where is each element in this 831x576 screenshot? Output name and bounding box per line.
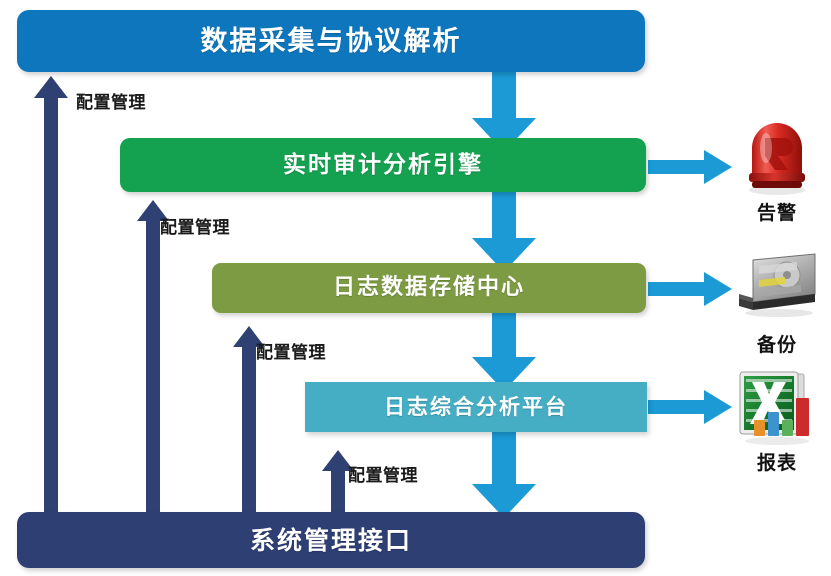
spreadsheet-chart-icon xyxy=(722,368,831,446)
config-arrow-up-2 xyxy=(136,200,170,516)
box-realtime-audit-engine-label: 实时审计分析引擎 xyxy=(283,154,483,177)
flow-arrow-storage-to-platform xyxy=(466,309,542,391)
config-arrow-label-2: 配置管理 xyxy=(160,213,230,238)
output-report[interactable]: 报表 xyxy=(722,368,831,475)
box-realtime-audit-engine[interactable]: 实时审计分析引擎 xyxy=(120,138,646,192)
output-alarm-caption: 告警 xyxy=(722,198,831,225)
siren-alarm-icon xyxy=(722,118,831,196)
output-alarm[interactable]: 告警 xyxy=(722,118,831,225)
output-report-caption: 报表 xyxy=(722,448,831,475)
config-arrow-up-1 xyxy=(33,76,69,516)
config-arrow-label-3: 配置管理 xyxy=(256,338,326,363)
output-backup[interactable]: 备份 xyxy=(722,250,831,357)
config-arrow-label-4: 配置管理 xyxy=(348,461,418,486)
output-backup-caption: 备份 xyxy=(722,330,831,357)
box-log-storage-center-label: 日志数据存储中心 xyxy=(333,277,525,299)
box-data-collection-label: 数据采集与协议解析 xyxy=(201,28,462,55)
flow-arrow-storage-to-backup xyxy=(648,272,732,306)
flow-arrow-engine-to-storage xyxy=(466,188,542,272)
architecture-diagram: 配置管理 配置管理 配置管理 配置管理 数据采集与协议解析 实时审计分析引擎 日… xyxy=(0,0,831,576)
box-log-analysis-platform[interactable]: 日志综合分析平台 xyxy=(305,382,647,432)
box-system-admin-interface[interactable]: 系统管理接口 xyxy=(17,512,645,568)
box-system-admin-interface-label: 系统管理接口 xyxy=(250,528,412,553)
hard-disk-icon xyxy=(722,250,831,328)
flow-arrow-platform-to-admin xyxy=(466,428,542,518)
box-log-storage-center[interactable]: 日志数据存储中心 xyxy=(212,263,646,313)
flow-arrow-platform-to-report xyxy=(648,390,732,424)
flow-arrow-engine-to-alarm xyxy=(648,150,732,184)
box-data-collection[interactable]: 数据采集与协议解析 xyxy=(17,10,645,72)
config-arrow-label-1: 配置管理 xyxy=(76,88,146,113)
box-log-analysis-platform-label: 日志综合分析平台 xyxy=(384,397,568,418)
